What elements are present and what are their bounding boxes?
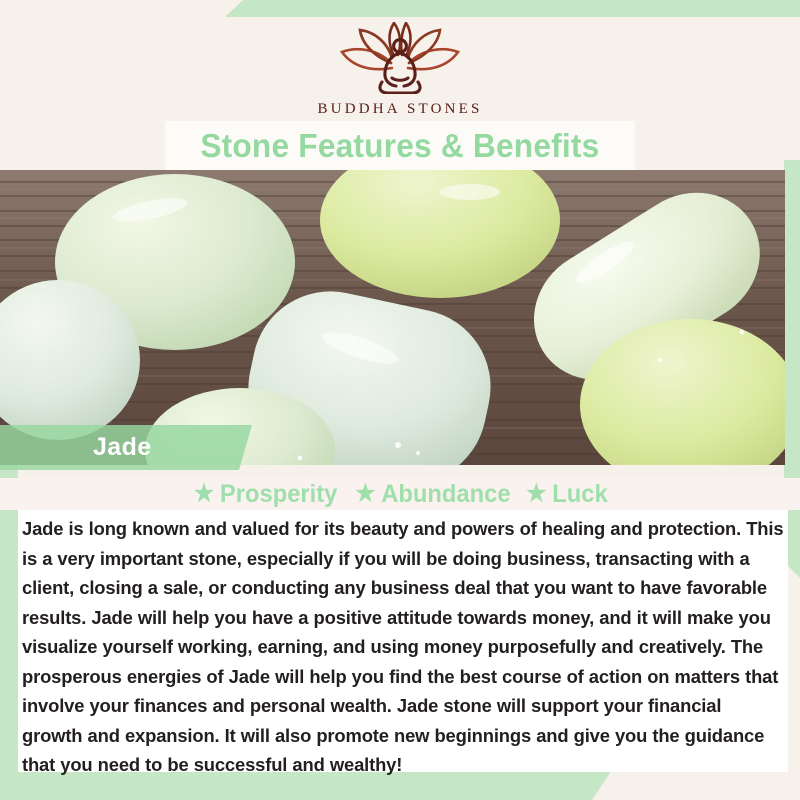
benefit-label: Luck — [553, 480, 608, 509]
page-title-banner: Stone Features & Benefits — [165, 121, 635, 170]
benefit-item-prosperity: ★ Prosperity — [193, 480, 337, 509]
stone-benefits-poster: BUDDHA STONES Stone Features & Benefits — [0, 0, 800, 800]
decorative-band-top — [225, 0, 800, 17]
description-text: Jade is long known and valued for its be… — [22, 514, 786, 780]
jade-stones-illustration — [0, 170, 785, 465]
lotus-meditation-icon — [330, 22, 470, 94]
benefits-row: ★ Prosperity ★ Abundance ★ Luck — [0, 478, 800, 510]
brand-logo: BUDDHA STONES — [0, 22, 800, 118]
benefit-item-luck: ★ Luck — [527, 480, 609, 509]
star-icon: ★ — [193, 482, 213, 506]
benefit-item-abundance: ★ Abundance — [355, 480, 510, 509]
page-title: Stone Features & Benefits — [200, 127, 599, 165]
star-icon: ★ — [355, 482, 375, 506]
benefit-label: Prosperity — [220, 480, 337, 509]
star-icon: ★ — [527, 482, 547, 506]
decorative-bar-left-text — [0, 470, 18, 770]
stone-name: Jade — [93, 433, 152, 462]
description-panel: Jade is long known and valued for its be… — [18, 510, 788, 772]
hero-image — [0, 170, 785, 465]
brand-name: BUDDHA STONES — [317, 101, 482, 118]
benefit-label: Abundance — [381, 480, 510, 509]
stone-name-label: Jade — [0, 425, 252, 470]
